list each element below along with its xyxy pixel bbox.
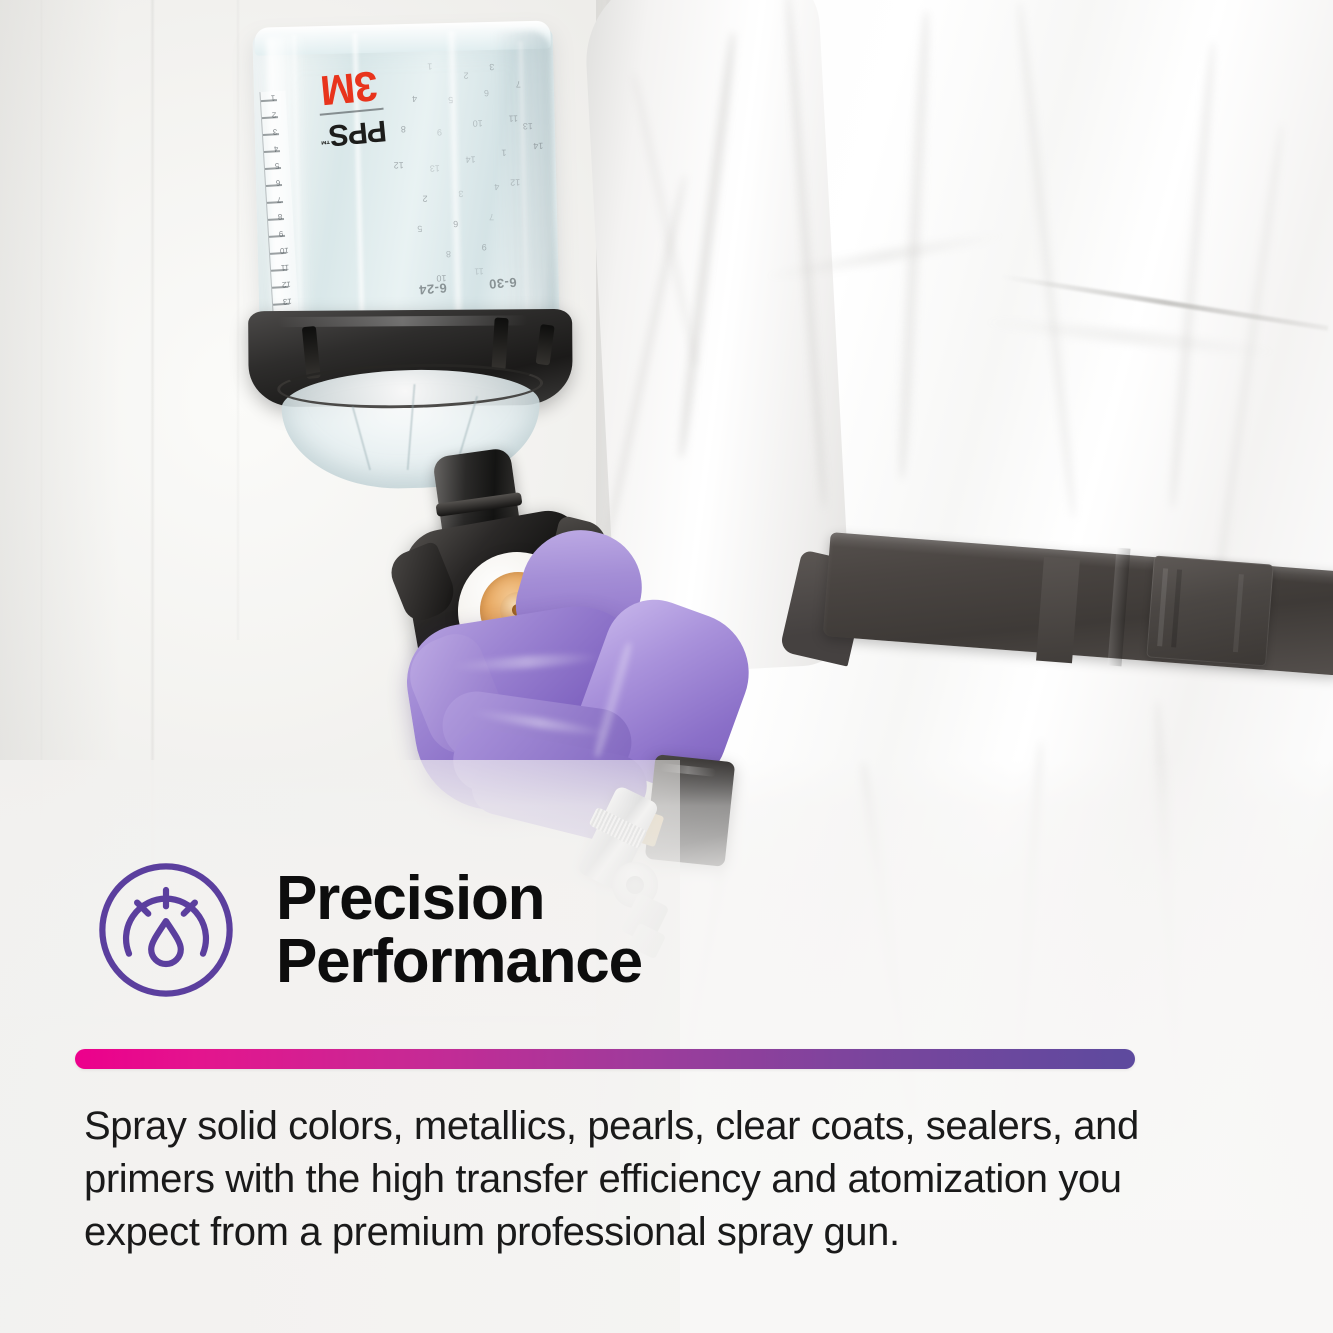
cup-scale-numeral: 8 <box>401 124 406 134</box>
wall-seam <box>40 0 43 980</box>
trademark-symbol: ™ <box>321 134 331 146</box>
cup-scale-numeral: 12 <box>394 160 404 170</box>
cup-scale-numeral: 7 <box>489 212 494 222</box>
scale-number: 9 <box>279 229 284 238</box>
scale-number: 6 <box>276 178 281 187</box>
cup-scale-numeral: 3 <box>458 189 463 199</box>
cup-scale-numeral: 3 <box>489 62 494 72</box>
cup-scale-numeral: 13 <box>430 163 440 173</box>
cup-branding: PPS™ 3M <box>315 66 388 149</box>
cup-scale-numeral: 12 <box>510 177 520 187</box>
scale-number: 12 <box>282 280 291 290</box>
cup-scale-numeral: 10 <box>473 118 483 128</box>
scale-number: 2 <box>272 110 277 119</box>
cup-scale-numeral: 7 <box>516 79 521 89</box>
scale-number: 1 <box>271 93 276 102</box>
cup-size-mark: 6-24 <box>418 280 447 297</box>
scale-number: 8 <box>278 212 283 221</box>
scale-number: 4 <box>274 144 279 153</box>
scale-number: 3 <box>273 127 278 136</box>
cup-scale-numeral: 13 <box>523 121 533 131</box>
cup-scale-numeral: 8 <box>446 249 451 259</box>
feature-body-text: Spray solid colors, metallics, pearls, c… <box>84 1100 1169 1260</box>
cup-scale-numeral: 5 <box>417 224 422 234</box>
cup-scale-numeral: 4 <box>494 182 499 192</box>
cup-scale-numeral: 2 <box>463 71 468 81</box>
scale-number: 10 <box>280 246 289 256</box>
scale-number: 11 <box>281 263 290 272</box>
pps-paint-cup: 1234567891011121314 12345678910111213141… <box>230 20 591 498</box>
gradient-divider <box>75 1049 1135 1069</box>
cup-scale-numeral: 1 <box>501 148 506 158</box>
cup-scale-numeral: 5 <box>448 95 453 105</box>
cup-scale-numeral: 6 <box>453 219 458 229</box>
cup-scale-numeral: 11 <box>508 113 518 123</box>
3m-logo: 3M <box>315 66 384 110</box>
scale-number: 13 <box>283 297 292 307</box>
collar-highlight <box>277 315 527 327</box>
cup-scale-numeral: 11 <box>474 266 484 276</box>
floor-line <box>0 1016 660 1026</box>
cup-scale-numeral: 6 <box>484 88 489 98</box>
cup-scale-numeral: 1 <box>427 61 432 71</box>
cup-scale-numeral: 14 <box>465 154 475 164</box>
cup-scale-numeral: 2 <box>422 194 427 204</box>
pps-wordmark: PPS™ <box>319 115 387 150</box>
cup-scale-numeral: 9 <box>482 242 487 252</box>
feature-headline-row: Precision Performance <box>92 856 642 1004</box>
scale-number: 5 <box>275 161 280 170</box>
belt-buckle <box>1146 556 1273 667</box>
cup-size-mark: 6-30 <box>488 275 517 292</box>
cup-shadow <box>492 31 558 354</box>
feature-heading: Precision Performance <box>276 867 642 993</box>
cup-scale-numeral: 14 <box>533 141 543 151</box>
cup-scale-numeral: 4 <box>412 94 417 104</box>
scale-number: 7 <box>277 195 282 204</box>
feature-card: 1234567891011121314 12345678910111213141… <box>0 0 1333 1333</box>
cup-scale-numeral: 9 <box>437 127 442 137</box>
gauge-droplet-icon <box>92 856 240 1004</box>
